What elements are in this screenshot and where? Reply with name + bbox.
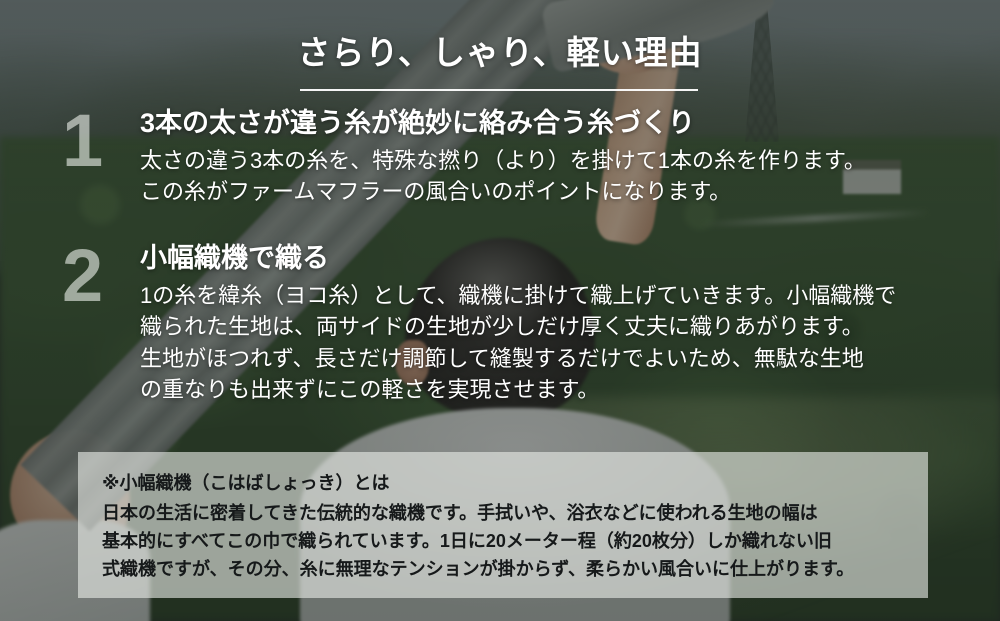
step-number-2: 2 [62,243,134,310]
footnote-panel: ※小幅織機（こはばしょっき）とは 日本の生活に密着してきた伝統的な織機です。手拭… [78,452,928,598]
step-heading-2: 小幅織機で織る [140,243,960,274]
footnote-line-3: 式織機ですが、その分、糸に無理なテンションが掛からず、柔らかい風合いに仕上がりま… [102,555,904,583]
promo-banner: さらり、しゃり、軽い理由 1 3本の太さが違う糸が絶妙に絡み合う糸づくり 太さの… [0,0,1000,621]
step-item-2: 2 小幅織機で織る 1の糸を緯糸（ヨコ糸）として、織機に掛けて織上げていきます。… [62,243,960,405]
step-item-1: 1 3本の太さが違う糸が絶妙に絡み合う糸づくり 太さの違う3本の糸を、特殊な撚り… [62,108,960,208]
step-line-2-2: 織られた生地は、両サイドの生地が少しだけ厚く丈夫に織りあがります。 [140,311,960,342]
page-title: さらり、しゃり、軽い理由 [0,26,1000,74]
step-body-2: 小幅織機で織る 1の糸を緯糸（ヨコ糸）として、織機に掛けて織上げていきます。小幅… [140,243,960,405]
step-heading-1: 3本の太さが違う糸が絶妙に絡み合う糸づくり [140,108,960,139]
footnote-line-2: 基本的にすべてこの巾で織られています。1日に20メーター程（約20枚分）しか織れ… [102,527,904,555]
title-divider [300,89,698,91]
step-line-2-4: の重なりも出来ずにこの軽さを実現させます。 [140,374,960,405]
step-line-2-1: 1の糸を緯糸（ヨコ糸）として、織機に掛けて織上げていきます。小幅織機で [140,280,960,311]
step-line-2-3: 生地がほつれず、長さだけ調節して縫製するだけでよいため、無駄な生地 [140,343,960,374]
step-line-1-2: この糸がファームマフラーの風合いのポイントになります。 [140,176,960,207]
footnote-title: ※小幅織機（こはばしょっき）とは [102,470,904,497]
footnote-line-1: 日本の生活に密着してきた伝統的な織機です。手拭いや、浴衣などに使われる生地の幅は [102,499,904,527]
content-layer: さらり、しゃり、軽い理由 1 3本の太さが違う糸が絶妙に絡み合う糸づくり 太さの… [0,0,1000,621]
footnote-content: ※小幅織機（こはばしょっき）とは 日本の生活に密着してきた伝統的な織機です。手拭… [78,452,928,583]
step-body-1: 3本の太さが違う糸が絶妙に絡み合う糸づくり 太さの違う3本の糸を、特殊な撚り（よ… [140,108,960,208]
step-line-1-1: 太さの違う3本の糸を、特殊な撚り（より）を掛けて1本の糸を作ります。 [140,145,960,176]
step-number-1: 1 [62,108,134,175]
